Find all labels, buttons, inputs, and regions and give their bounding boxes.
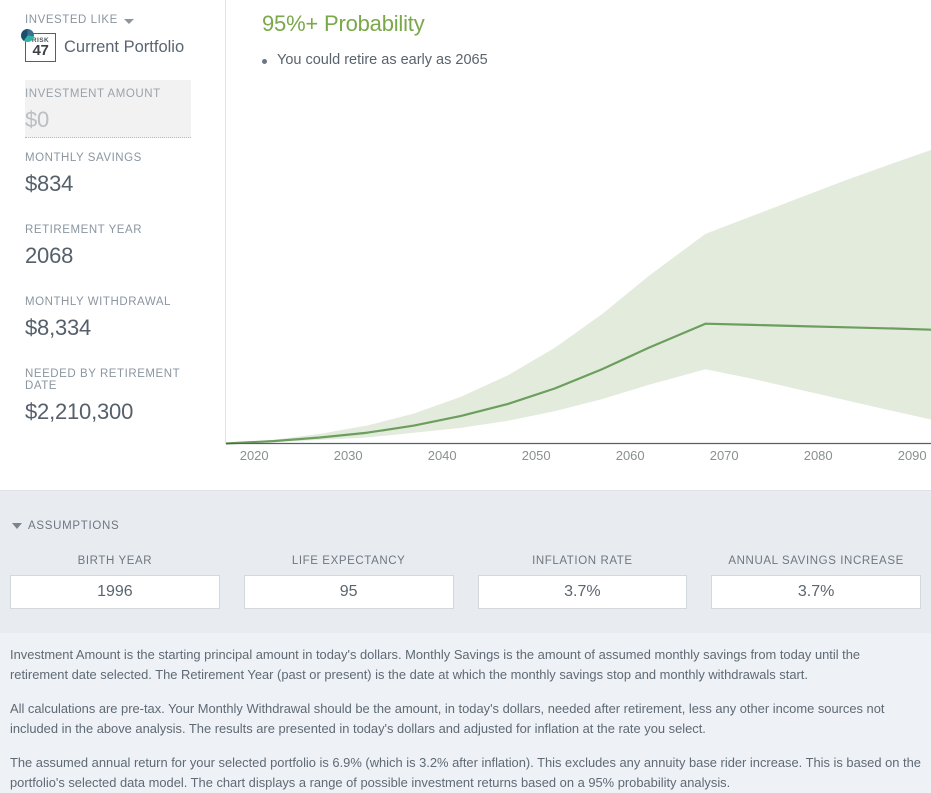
risk-pie-icon: [21, 29, 34, 42]
monthly-withdrawal-value[interactable]: $8,334: [25, 315, 191, 341]
birth-year-cell: BIRTH YEAR 1996: [10, 555, 220, 609]
portfolio-name: Current Portfolio: [64, 38, 184, 57]
projection-chart: 95%+ Probability You could retire as ear…: [226, 0, 931, 490]
disclaimer-paragraph-2: All calculations are pre-tax. Your Month…: [10, 699, 921, 739]
retirement-year-label: RETIREMENT YEAR: [25, 224, 191, 236]
chart-plot-svg[interactable]: [226, 0, 931, 450]
assumptions-panel: ASSUMPTIONS BIRTH YEAR 1996 LIFE EXPECTA…: [0, 490, 931, 633]
x-axis-tick-2070: 2070: [710, 448, 739, 463]
caret-down-icon[interactable]: [124, 19, 134, 24]
assumptions-title: ASSUMPTIONS: [28, 520, 119, 532]
birth-year-label: BIRTH YEAR: [78, 555, 153, 567]
monthly-savings-label: MONTHLY SAVINGS: [25, 152, 191, 164]
retirement-calculator-page: INVESTED LIKE RISK 47 Current Portfolio …: [0, 0, 931, 793]
birth-year-input[interactable]: 1996: [10, 575, 220, 609]
disclaimer-section: Investment Amount is the starting princi…: [0, 633, 931, 793]
x-axis-tick-2030: 2030: [334, 448, 363, 463]
needed-by-retirement-date-label: NEEDED BY RETIREMENT DATE: [25, 368, 215, 392]
invested-like-dropdown[interactable]: INVESTED LIKE: [25, 14, 134, 26]
life-expectancy-label: LIFE EXPECTANCY: [292, 555, 406, 567]
retirement-year-value[interactable]: 2068: [25, 243, 191, 269]
investment-amount-value[interactable]: $0: [25, 107, 191, 133]
annual-savings-increase-cell: ANNUAL SAVINGS INCREASE 3.7%: [711, 555, 921, 609]
risk-score-badge[interactable]: RISK 47: [25, 33, 56, 62]
needed-by-retirement-date-value: $2,210,300: [25, 399, 215, 425]
assumptions-toggle[interactable]: ASSUMPTIONS: [12, 520, 119, 532]
disclaimer-paragraph-3: The assumed annual return for your selec…: [10, 753, 921, 793]
x-axis-tick-2080: 2080: [804, 448, 833, 463]
retirement-year-field[interactable]: RETIREMENT YEAR 2068: [25, 224, 191, 269]
x-axis-tick-2020: 2020: [240, 448, 269, 463]
inflation-rate-cell: INFLATION RATE 3.7%: [478, 555, 688, 609]
monthly-savings-value[interactable]: $834: [25, 171, 191, 197]
inflation-rate-label: INFLATION RATE: [532, 555, 633, 567]
life-expectancy-input[interactable]: 95: [244, 575, 454, 609]
disclaimer-paragraph-1: Investment Amount is the starting princi…: [10, 645, 921, 685]
life-expectancy-cell: LIFE EXPECTANCY 95: [244, 555, 454, 609]
monthly-savings-field[interactable]: MONTHLY SAVINGS $834: [25, 152, 191, 197]
inputs-sidebar: INVESTED LIKE RISK 47 Current Portfolio …: [0, 0, 226, 444]
x-axis-tick-2090: 2090: [898, 448, 927, 463]
assumptions-fields: BIRTH YEAR 1996 LIFE EXPECTANCY 95 INFLA…: [10, 555, 921, 609]
x-axis-tick-2060: 2060: [616, 448, 645, 463]
top-region: INVESTED LIKE RISK 47 Current Portfolio …: [0, 0, 931, 490]
x-axis-tick-2040: 2040: [428, 448, 457, 463]
investment-amount-field[interactable]: INVESTMENT AMOUNT $0: [25, 80, 191, 138]
x-axis-tick-2050: 2050: [522, 448, 551, 463]
chevron-down-icon[interactable]: [12, 523, 22, 529]
inflation-rate-input[interactable]: 3.7%: [478, 575, 688, 609]
confidence-band-area: [226, 150, 931, 444]
monthly-withdrawal-field[interactable]: MONTHLY WITHDRAWAL $8,334: [25, 296, 191, 341]
needed-by-retirement-date-field: NEEDED BY RETIREMENT DATE $2,210,300: [25, 368, 215, 425]
monthly-withdrawal-label: MONTHLY WITHDRAWAL: [25, 296, 191, 308]
x-axis-tick-labels: 20202030204020502060207020802090: [226, 448, 931, 478]
invested-like-label: INVESTED LIKE: [25, 14, 118, 26]
annual-savings-increase-input[interactable]: 3.7%: [711, 575, 921, 609]
investment-amount-label: INVESTMENT AMOUNT: [25, 88, 191, 100]
portfolio-selector[interactable]: RISK 47 Current Portfolio: [25, 33, 184, 62]
risk-badge-score: 47: [32, 43, 48, 58]
annual-savings-increase-label: ANNUAL SAVINGS INCREASE: [728, 555, 903, 567]
